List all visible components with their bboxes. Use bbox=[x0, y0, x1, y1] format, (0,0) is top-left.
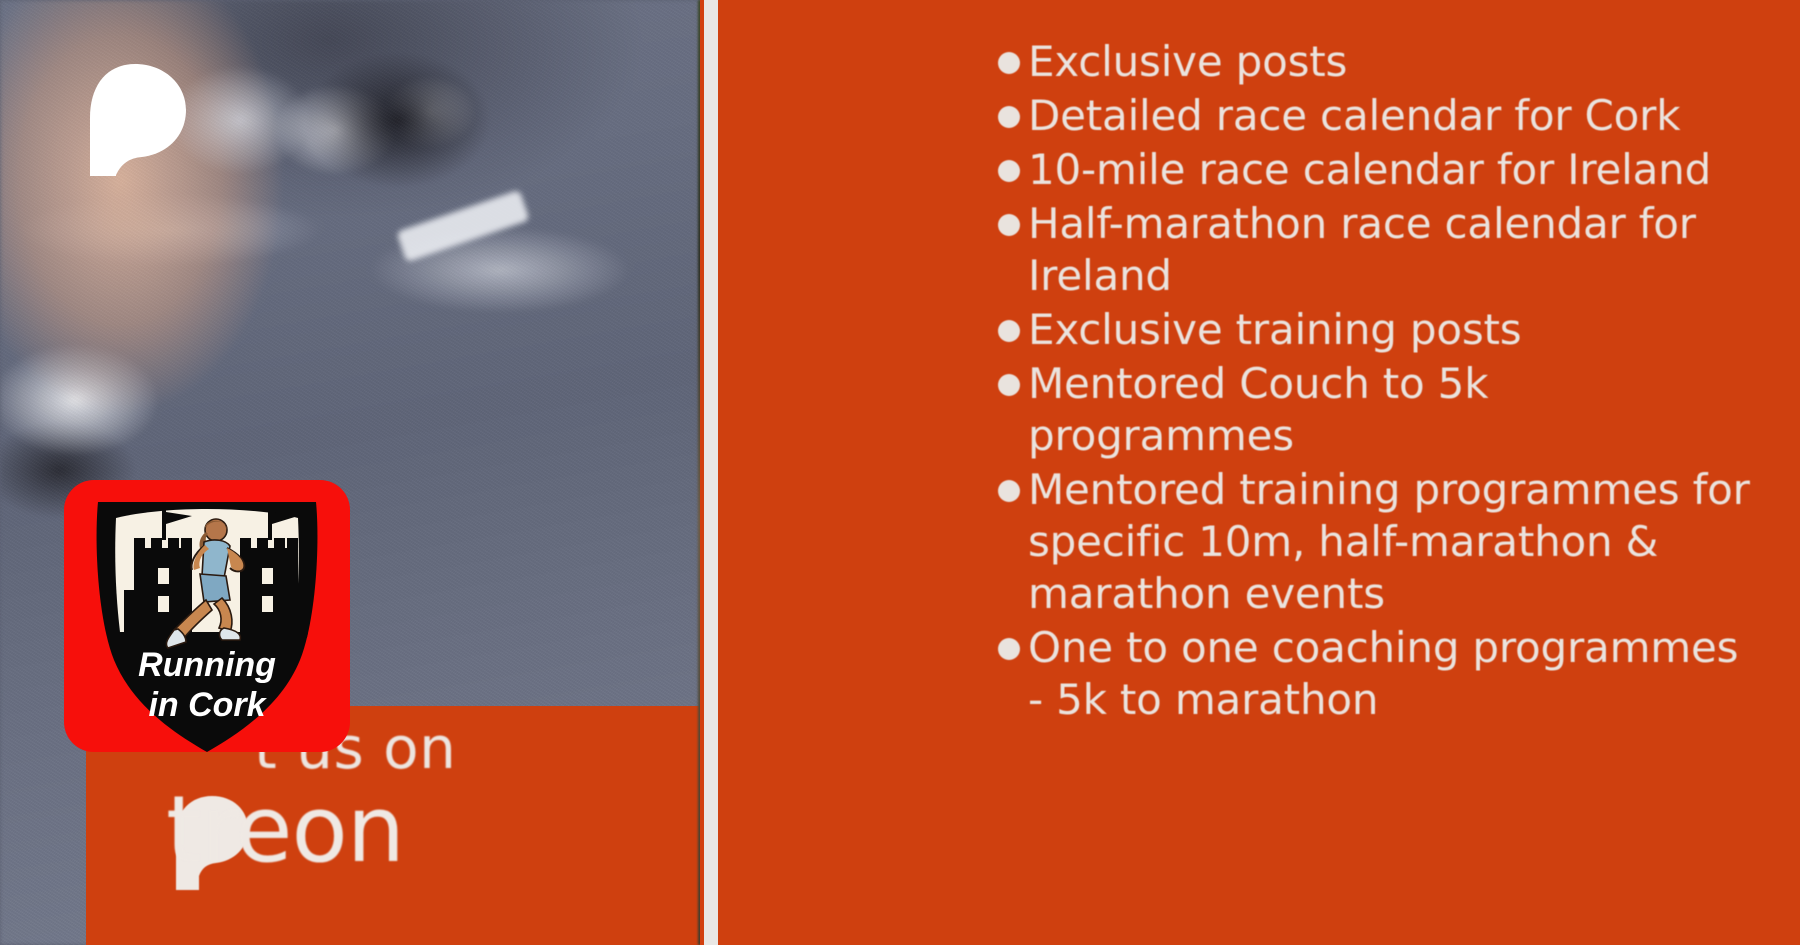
benefit-label: Mentored Couch to 5k programmes bbox=[1028, 358, 1758, 462]
benefit-label: Exclusive posts bbox=[1028, 36, 1347, 88]
running-in-cork-logo[interactable]: Running in Cork bbox=[64, 480, 350, 752]
banner-line-2: treon bbox=[166, 776, 404, 883]
list-item: Mentored Couch to 5k programmes bbox=[998, 358, 1758, 462]
bullet-icon bbox=[998, 638, 1020, 660]
benefit-label: 10-mile race calendar for Ireland bbox=[1028, 144, 1711, 196]
benefits-list: Exclusive posts Detailed race calendar f… bbox=[998, 36, 1758, 728]
benefit-label: One to one coaching programmes - 5k to m… bbox=[1028, 622, 1758, 726]
patreon-p-icon bbox=[72, 58, 190, 176]
badge-title-line2: in Cork bbox=[148, 686, 267, 724]
benefit-label: Mentored training programmes for specifi… bbox=[1028, 464, 1758, 620]
bullet-icon bbox=[998, 320, 1020, 342]
patreon-promo-card: t us on treon bbox=[0, 0, 700, 945]
bullet-icon bbox=[998, 214, 1020, 236]
list-item: Half-marathon race calendar for Ireland bbox=[998, 198, 1758, 302]
promo-screen: t us on treon bbox=[0, 0, 1800, 945]
photo-right-edge bbox=[698, 0, 700, 945]
bullet-icon bbox=[998, 160, 1020, 182]
bullet-icon bbox=[998, 52, 1020, 74]
badge-title-line1: Running bbox=[138, 646, 276, 684]
list-item: Exclusive posts bbox=[998, 36, 1758, 88]
bullet-icon bbox=[998, 106, 1020, 128]
membership-benefits-panel: Exclusive posts Detailed race calendar f… bbox=[718, 0, 1800, 945]
benefit-label: Exclusive training posts bbox=[1028, 304, 1521, 356]
list-item: 10-mile race calendar for Ireland bbox=[998, 144, 1758, 196]
list-item: One to one coaching programmes - 5k to m… bbox=[998, 622, 1758, 726]
list-item: Mentored training programmes for specifi… bbox=[998, 464, 1758, 620]
benefit-label: Half-marathon race calendar for Ireland bbox=[1028, 198, 1758, 302]
list-item: Detailed race calendar for Cork bbox=[998, 90, 1758, 142]
benefit-label: Detailed race calendar for Cork bbox=[1028, 90, 1680, 142]
bullet-icon bbox=[998, 374, 1020, 396]
list-item: Exclusive training posts bbox=[998, 304, 1758, 356]
panel-divider bbox=[704, 0, 718, 945]
bullet-icon bbox=[998, 480, 1020, 502]
